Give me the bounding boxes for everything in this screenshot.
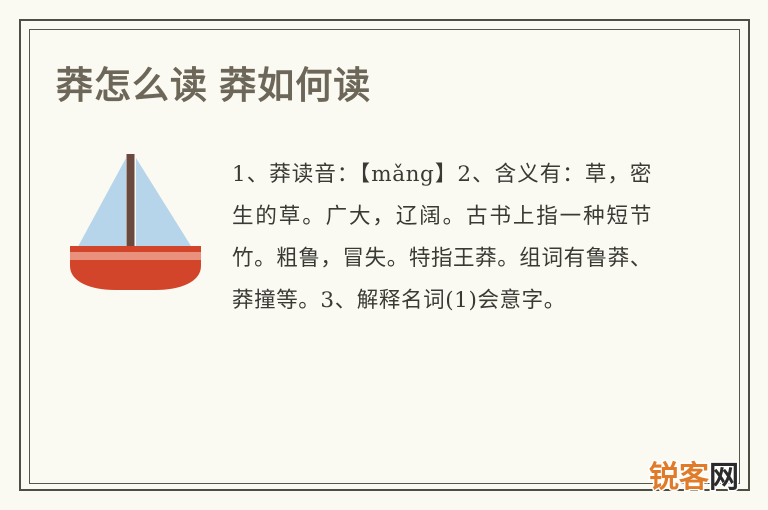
article-line: 撞等。3、解释名词(1)会意字。 (254, 288, 566, 313)
article-body: 1、莽读音：【mǎng】2、含义有：草，密生的草。广大，辽阔。古书上指一种短节竹… (232, 154, 652, 322)
page-title: 莽怎么读 莽如何读 (56, 63, 371, 109)
watermark-text-boxed: 网 (709, 461, 739, 495)
article-line: 1、莽读音：【mǎng】2、含义有 (232, 162, 562, 187)
page-root: 莽怎么读 莽如何读 1、莽读音：【mǎng】2、含义有：草，密生的草。广大，辽阔… (0, 0, 768, 510)
site-watermark: 锐客网 (649, 461, 739, 495)
content-area: 1、莽读音：【mǎng】2、含义有：草，密生的草。广大，辽阔。古书上指一种短节竹… (56, 150, 676, 420)
watermark-text: 锐客 (649, 461, 709, 494)
sailboat-icon (64, 150, 214, 295)
